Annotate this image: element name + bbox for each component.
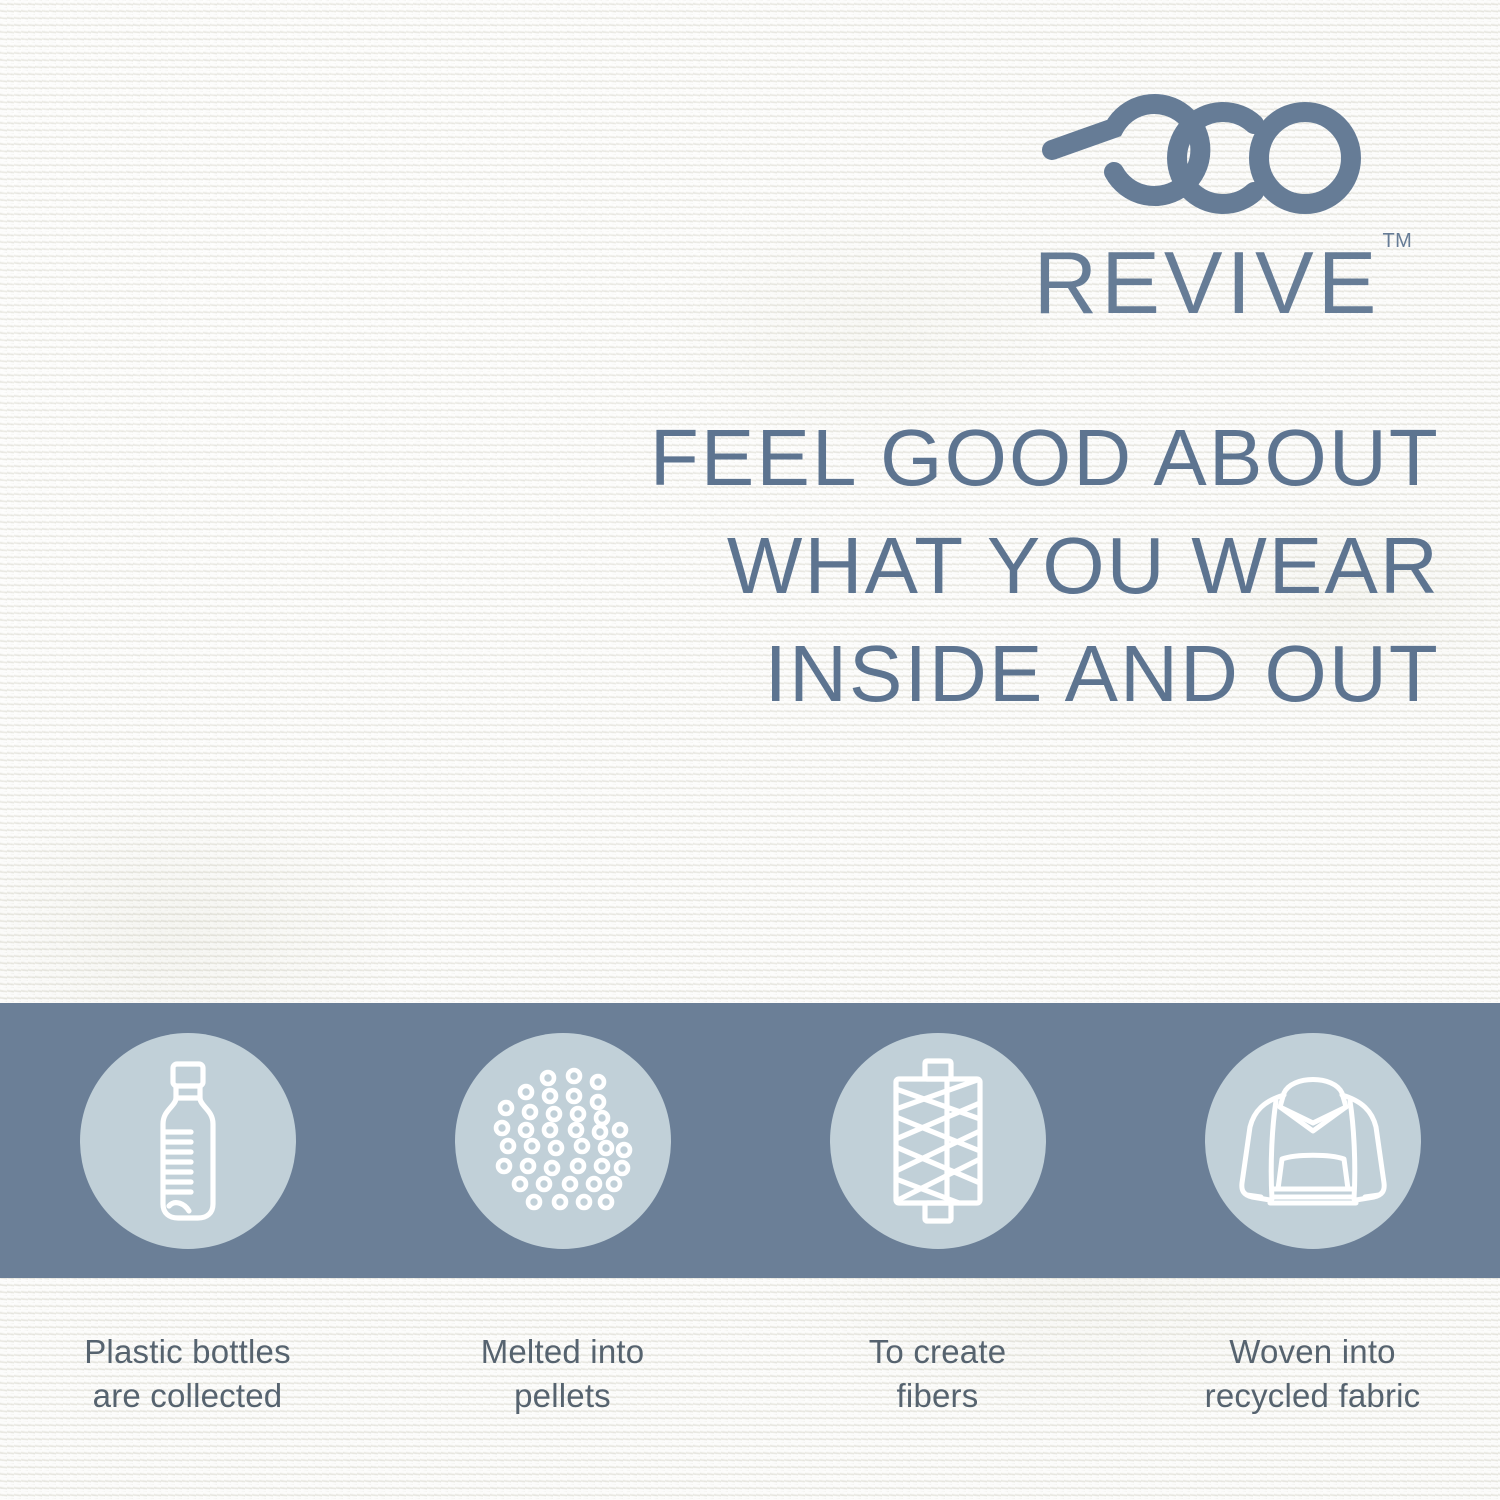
caption-step-1-line-1: Plastic bottles [0, 1330, 375, 1374]
caption-step-2: Melted into pellets [375, 1330, 750, 1418]
brand-wordmark: REVIVETM [1012, 239, 1432, 327]
process-step-3 [750, 1033, 1125, 1249]
plastic-pellets-icon [478, 1056, 648, 1226]
icon-disc-3 [830, 1033, 1046, 1249]
headline-line-2: WHAT YOU WEAR [0, 512, 1440, 620]
trademark-symbol: TM [1382, 230, 1412, 252]
brand-wordmark-text: REVIVE [1034, 233, 1381, 332]
caption-step-3-line-1: To create [750, 1330, 1125, 1374]
process-step-4 [1125, 1033, 1500, 1249]
headline-line-1: FEEL GOOD ABOUT [0, 404, 1440, 512]
eco-revive-infographic: REVIVETM FEEL GOOD ABOUT WHAT YOU WEAR I… [0, 0, 1500, 1500]
eco-infinity-logo-mark [1012, 88, 1432, 233]
icon-disc-2 [455, 1033, 671, 1249]
process-step-1 [0, 1033, 375, 1249]
caption-step-3-line-2: fibers [750, 1374, 1125, 1418]
caption-step-4-line-1: Woven into [1125, 1330, 1500, 1374]
hoodie-garment-icon [1228, 1061, 1398, 1221]
icon-disc-1 [80, 1033, 296, 1249]
caption-step-4-line-2: recycled fabric [1125, 1374, 1500, 1418]
process-band [0, 1003, 1500, 1278]
caption-step-1-line-2: are collected [0, 1374, 375, 1418]
process-step-2 [375, 1033, 750, 1249]
caption-step-2-line-1: Melted into [375, 1330, 750, 1374]
plastic-bottle-icon [113, 1056, 263, 1226]
caption-step-3: To create fibers [750, 1330, 1125, 1418]
icon-disc-4 [1205, 1033, 1421, 1249]
caption-step-1: Plastic bottles are collected [0, 1330, 375, 1418]
process-icon-row [0, 1003, 1500, 1278]
caption-step-4: Woven into recycled fabric [1125, 1330, 1500, 1418]
thread-spool-icon [863, 1055, 1013, 1227]
process-captions: Plastic bottles are collected Melted int… [0, 1330, 1500, 1418]
headline: FEEL GOOD ABOUT WHAT YOU WEAR INSIDE AND… [0, 404, 1440, 728]
headline-line-3: INSIDE AND OUT [0, 620, 1440, 728]
caption-step-2-line-2: pellets [375, 1374, 750, 1418]
brand-logo: REVIVETM [1012, 88, 1432, 327]
